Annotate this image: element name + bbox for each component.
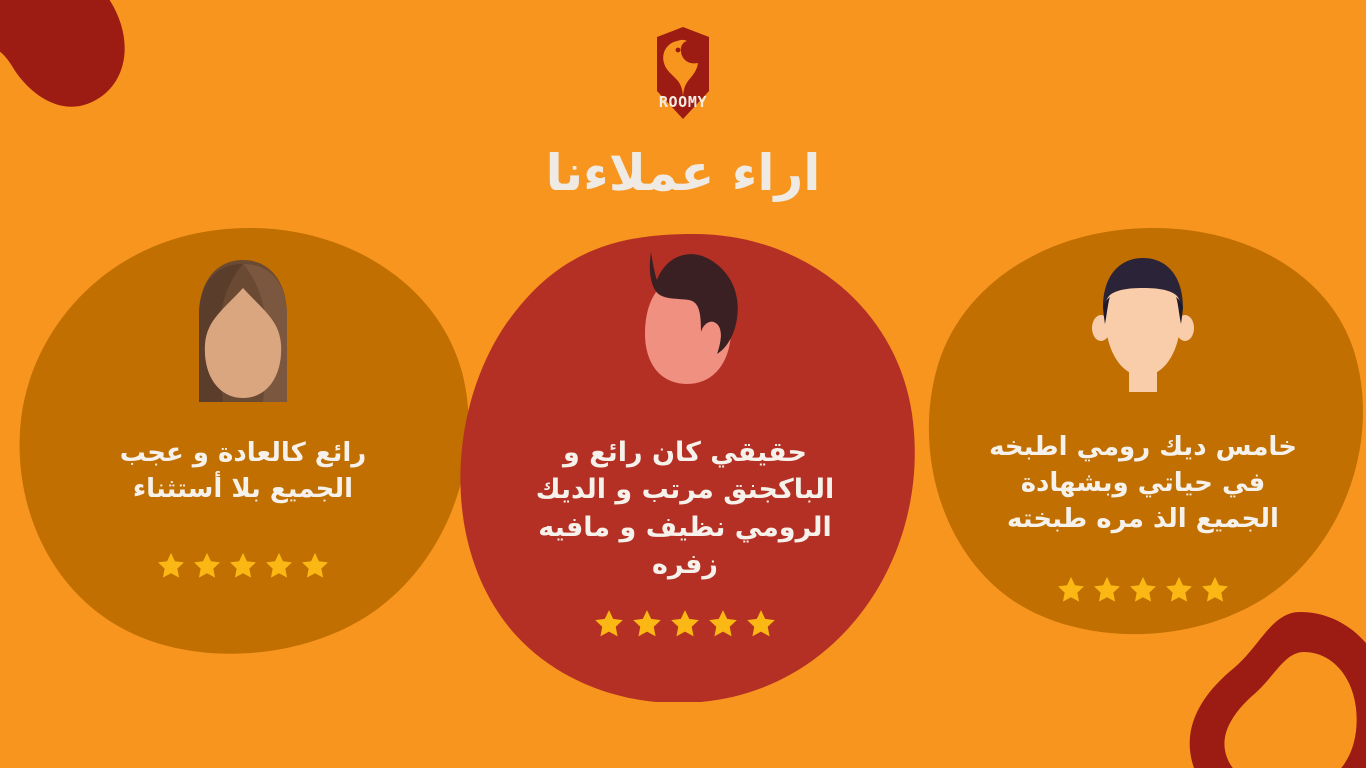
star-icon bbox=[1127, 574, 1159, 606]
testimonial-card-right[interactable]: خامس ديك رومي اطبخه في حياتي وبشهادة الج… bbox=[922, 226, 1364, 644]
star-icon bbox=[744, 607, 778, 641]
star-icon bbox=[299, 550, 331, 582]
star-icon bbox=[1199, 574, 1231, 606]
star-icon bbox=[592, 607, 626, 641]
rating-stars bbox=[592, 607, 778, 641]
testimonial-quote: خامس ديك رومي اطبخه في حياتي وبشهادة الج… bbox=[978, 430, 1308, 538]
rating-stars bbox=[155, 550, 331, 582]
star-icon bbox=[227, 550, 259, 582]
star-icon bbox=[263, 550, 295, 582]
testimonial-card-center[interactable]: حقيقي كان رائع و الباكجنق مرتب و الديك ا… bbox=[450, 232, 920, 702]
star-icon bbox=[1163, 574, 1195, 606]
star-icon bbox=[155, 550, 187, 582]
avatar-man-dark-hair bbox=[621, 238, 749, 398]
testimonials-slide: ROOMY اراء عملاءنا رائع كالعادة و عجب ال… bbox=[0, 0, 1366, 768]
star-icon bbox=[191, 550, 223, 582]
star-icon bbox=[1055, 574, 1087, 606]
avatar-man-short-hair bbox=[1081, 252, 1205, 402]
testimonial-card-left[interactable]: رائع كالعادة و عجب الجميع بلا أستثناء bbox=[14, 226, 472, 656]
testimonial-list: رائع كالعادة و عجب الجميع بلا أستثناء bbox=[0, 0, 1366, 768]
avatar-woman bbox=[183, 254, 303, 404]
star-icon bbox=[706, 607, 740, 641]
star-icon bbox=[668, 607, 702, 641]
testimonial-quote: رائع كالعادة و عجب الجميع بلا أستثناء bbox=[78, 436, 408, 508]
star-icon bbox=[1091, 574, 1123, 606]
testimonial-quote: حقيقي كان رائع و الباكجنق مرتب و الديك ا… bbox=[520, 434, 850, 583]
rating-stars bbox=[1055, 574, 1231, 606]
star-icon bbox=[630, 607, 664, 641]
